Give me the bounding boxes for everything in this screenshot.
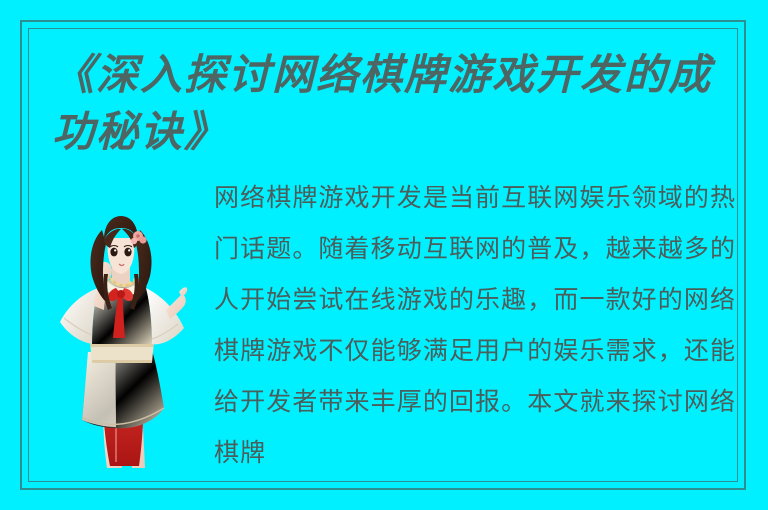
article-banner: 《深入探讨网络棋牌游戏开发的成功秘诀》	[0, 0, 768, 510]
article-body-text: 网络棋牌游戏开发是当前互联网娱乐领域的热门话题。随着移动互联网的普及，越来越多的…	[214, 172, 736, 480]
page-title: 《深入探讨网络棋牌游戏开发的成功秘诀》	[52, 48, 732, 162]
anime-girl-illustration	[46, 214, 198, 472]
